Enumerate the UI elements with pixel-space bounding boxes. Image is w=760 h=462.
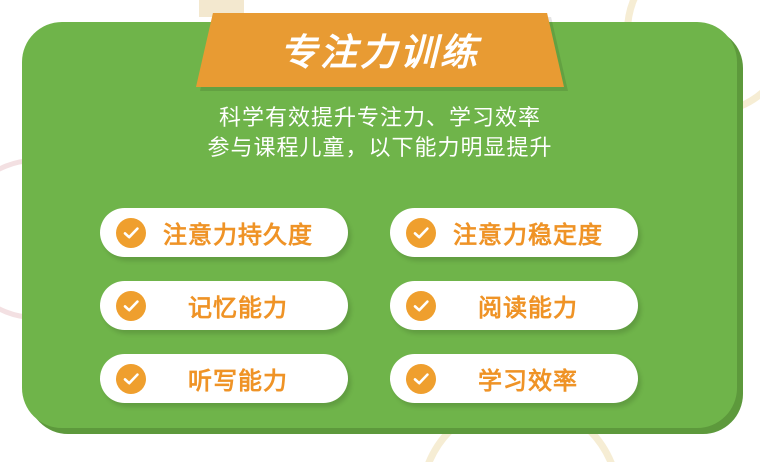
check-circle-icon — [406, 364, 436, 394]
check-circle-icon — [406, 218, 436, 248]
benefit-label: 注意力持久度 — [146, 215, 348, 250]
benefit-pill[interactable]: 学习效率 — [390, 354, 638, 403]
check-circle-icon — [116, 218, 146, 248]
benefit-label: 听写能力 — [146, 361, 348, 396]
check-circle-icon — [116, 291, 146, 321]
subtitle-line-1: 科学有效提升专注力、学习效率 — [0, 103, 760, 133]
benefit-pill[interactable]: 注意力稳定度 — [390, 208, 638, 257]
benefit-label: 注意力稳定度 — [436, 215, 638, 250]
poster-root: 专注力训练 科学有效提升专注力、学习效率 参与课程儿童，以下能力明显提升 注意力… — [0, 0, 760, 462]
benefit-label: 记忆能力 — [146, 288, 348, 323]
subtitle-block: 科学有效提升专注力、学习效率 参与课程儿童，以下能力明显提升 — [0, 103, 760, 163]
benefit-pill[interactable]: 阅读能力 — [390, 281, 638, 330]
benefit-label: 阅读能力 — [436, 288, 638, 323]
subtitle-line-2: 参与课程儿童，以下能力明显提升 — [0, 133, 760, 163]
benefits-grid: 注意力持久度 注意力稳定度 记忆能力 阅 — [100, 208, 660, 403]
benefit-pill[interactable]: 听写能力 — [100, 354, 348, 403]
benefit-pill[interactable]: 记忆能力 — [100, 281, 348, 330]
title-ribbon: 专注力训练 — [196, 13, 564, 87]
benefit-pill[interactable]: 注意力持久度 — [100, 208, 348, 257]
benefit-label: 学习效率 — [436, 361, 638, 396]
page-title: 专注力训练 — [280, 34, 480, 71]
check-circle-icon — [116, 364, 146, 394]
check-circle-icon — [406, 291, 436, 321]
